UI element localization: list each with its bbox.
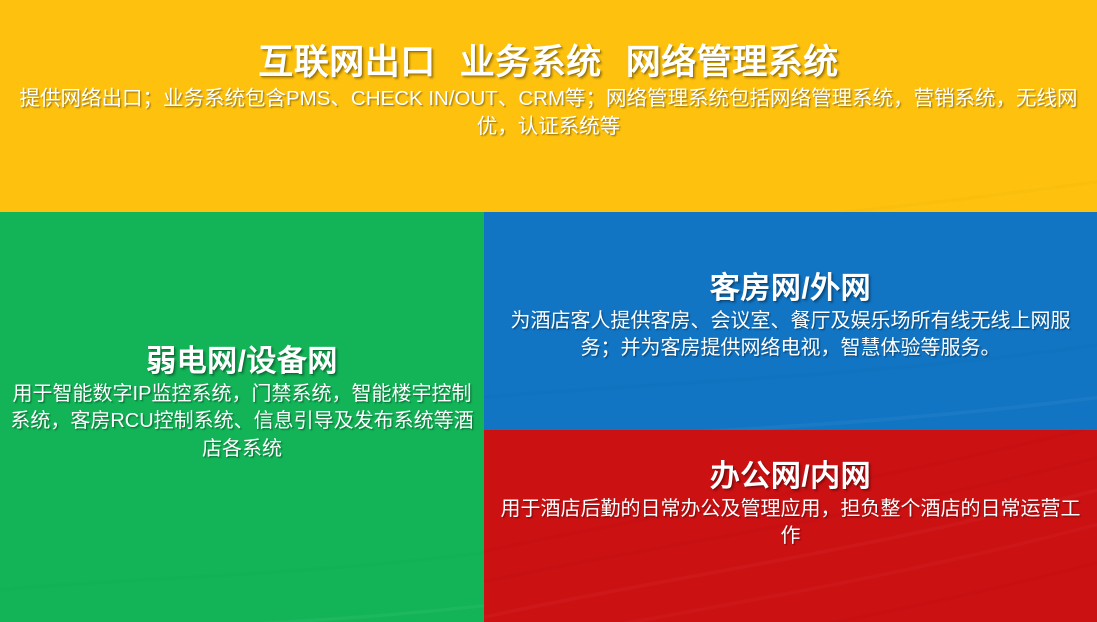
panel-guest-room-network[interactable]: 客房网/外网 为酒店客人提供客房、会议室、餐厅及娱乐场所有线无线上网服务；并为客…	[484, 212, 1097, 430]
weak-current-panel-description: 用于智能数字IP监控系统，门禁系统，智能楼宇控制系统，客房RCU控制系统、信息引…	[4, 381, 480, 464]
internet-title-segment-2: 业务系统	[460, 43, 602, 82]
panel-weak-current-network[interactable]: 弱电网/设备网 用于智能数字IP监控系统，门禁系统，智能楼宇控制系统，客房RCU…	[0, 212, 484, 622]
network-segmentation-slide: 互联网出口业务系统网络管理系统 提供网络出口；业务系统包含PMS、CHECK I…	[0, 0, 1097, 622]
guest-room-panel-title: 客房网/外网	[492, 273, 1089, 305]
panel-internet-egress[interactable]: 互联网出口业务系统网络管理系统 提供网络出口；业务系统包含PMS、CHECK I…	[0, 0, 1097, 212]
internet-panel-description: 提供网络出口；业务系统包含PMS、CHECK IN/OUT、CRM等；网络管理系…	[6, 85, 1091, 142]
panel-office-network[interactable]: 办公网/内网 用于酒店后勤的日常办公及管理应用，担负整个酒店的日常运营工作	[484, 430, 1097, 622]
internet-title-segment-1: 互联网出口	[258, 43, 436, 82]
internet-title-segment-3: 网络管理系统	[626, 43, 839, 82]
weak-current-panel-title: 弱电网/设备网	[4, 346, 480, 378]
internet-panel-title: 互联网出口业务系统网络管理系统	[6, 44, 1091, 82]
office-panel-title: 办公网/内网	[492, 461, 1089, 493]
guest-room-panel-description: 为酒店客人提供客房、会议室、餐厅及娱乐场所有线无线上网服务；并为客房提供网络电视…	[492, 308, 1089, 363]
internet-banner-content: 互联网出口业务系统网络管理系统 提供网络出口；业务系统包含PMS、CHECK I…	[6, 0, 1091, 141]
office-panel-description: 用于酒店后勤的日常办公及管理应用，担负整个酒店的日常运营工作	[492, 496, 1089, 551]
